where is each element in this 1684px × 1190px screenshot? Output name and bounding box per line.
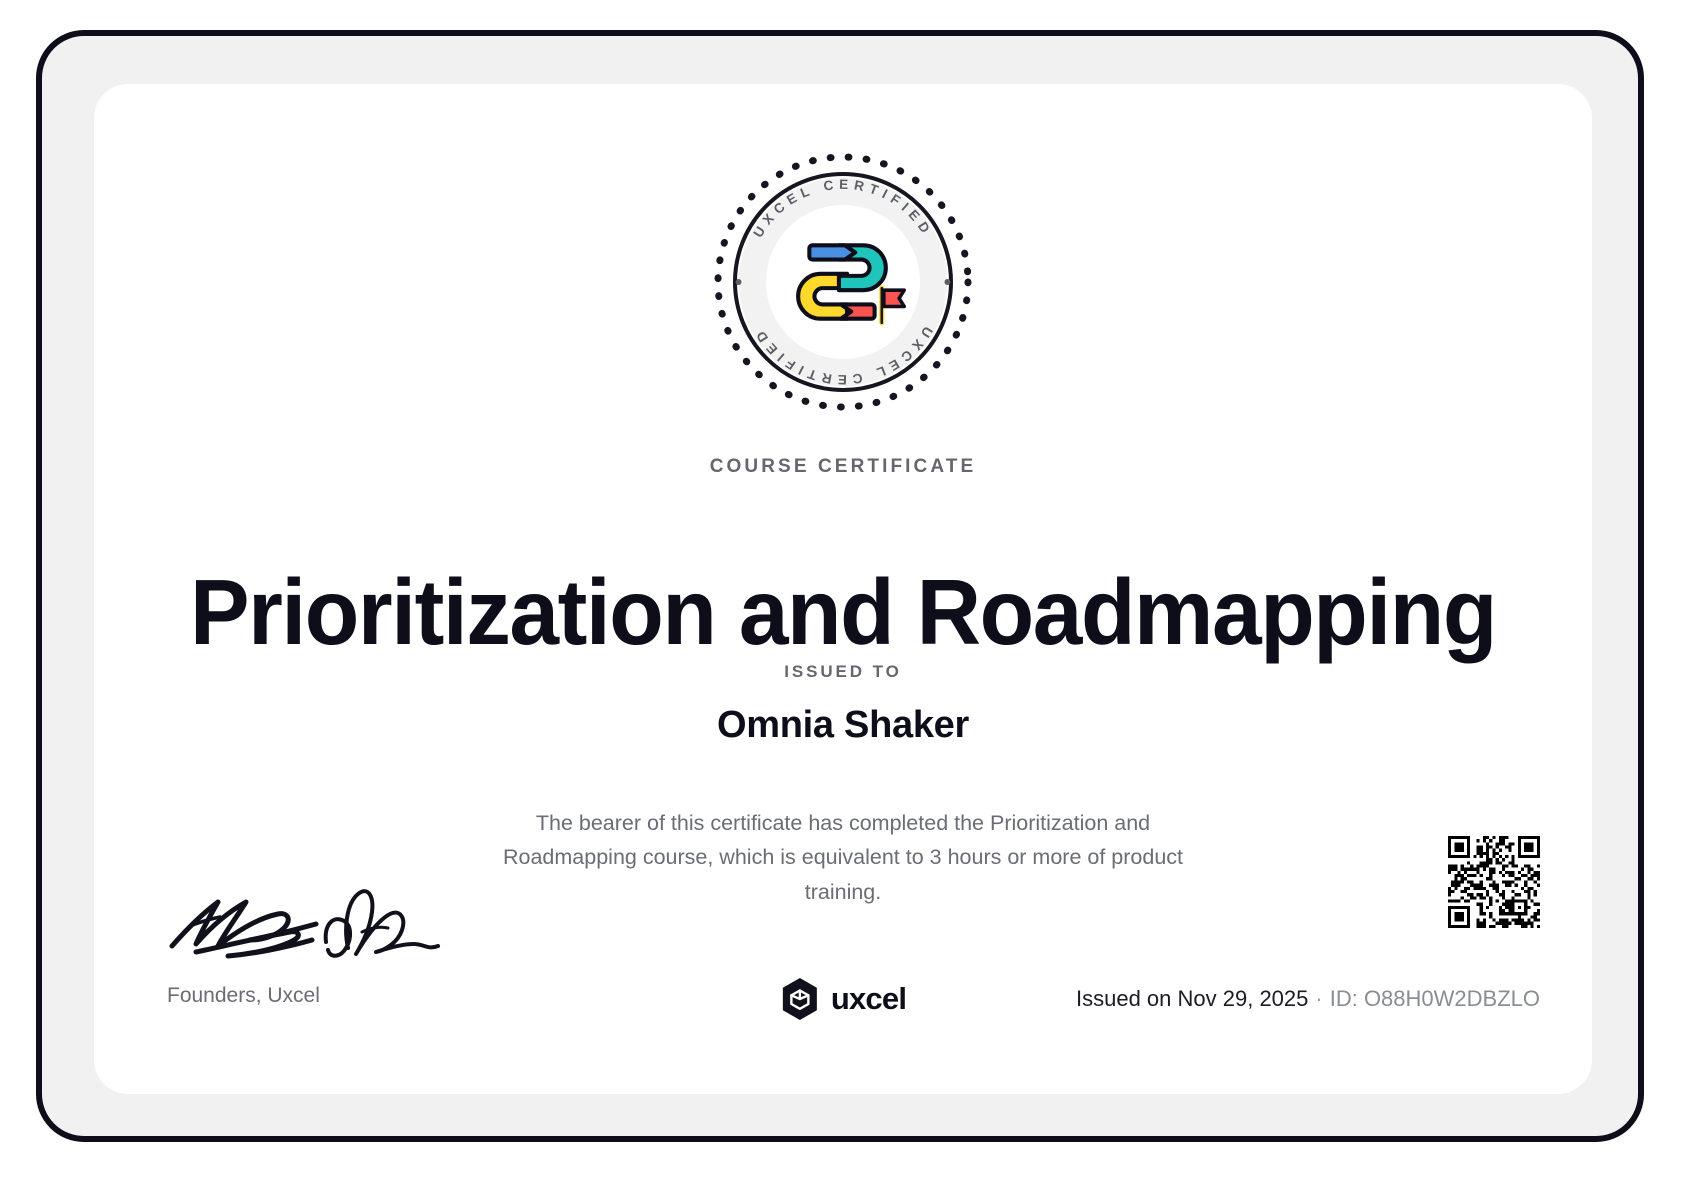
certificate-card: UXCEL CERTIFIED UXCEL CERTIFIED (94, 84, 1592, 1094)
certificate-kicker: COURSE CERTIFICATE (94, 456, 1592, 478)
issue-metadata: Issued on Nov 29, 2025·ID: O88H0W2DBZLO (1076, 986, 1540, 1012)
signature-label: Founders, Uxcel (167, 984, 320, 1008)
badge-seal-icon: UXCEL CERTIFIED UXCEL CERTIFIED (707, 146, 979, 418)
signature-icon (166, 874, 456, 964)
recipient-name: Omnia Shaker (94, 704, 1592, 747)
certificate-frame: UXCEL CERTIFIED UXCEL CERTIFIED (36, 30, 1644, 1142)
issue-date: Issued on Nov 29, 2025 (1076, 986, 1308, 1011)
uxcel-hexagon-logo-icon (780, 977, 820, 1021)
uxcel-wordmark: uxcel (831, 981, 906, 1017)
meta-separator: · (1308, 986, 1329, 1011)
uxcel-brand: uxcel (780, 977, 906, 1021)
verification-qr-code[interactable] (1448, 836, 1540, 928)
issued-to-label: ISSUED TO (94, 662, 1592, 682)
page-title: Prioritization and Roadmapping (124, 564, 1562, 661)
qr-code-icon (1448, 836, 1540, 928)
certificate-description: The bearer of this certificate has compl… (498, 806, 1188, 910)
credential-id: ID: O88H0W2DBZLO (1330, 986, 1540, 1011)
founder-signatures (166, 874, 456, 964)
uxcel-certified-badge: UXCEL CERTIFIED UXCEL CERTIFIED (707, 146, 979, 418)
